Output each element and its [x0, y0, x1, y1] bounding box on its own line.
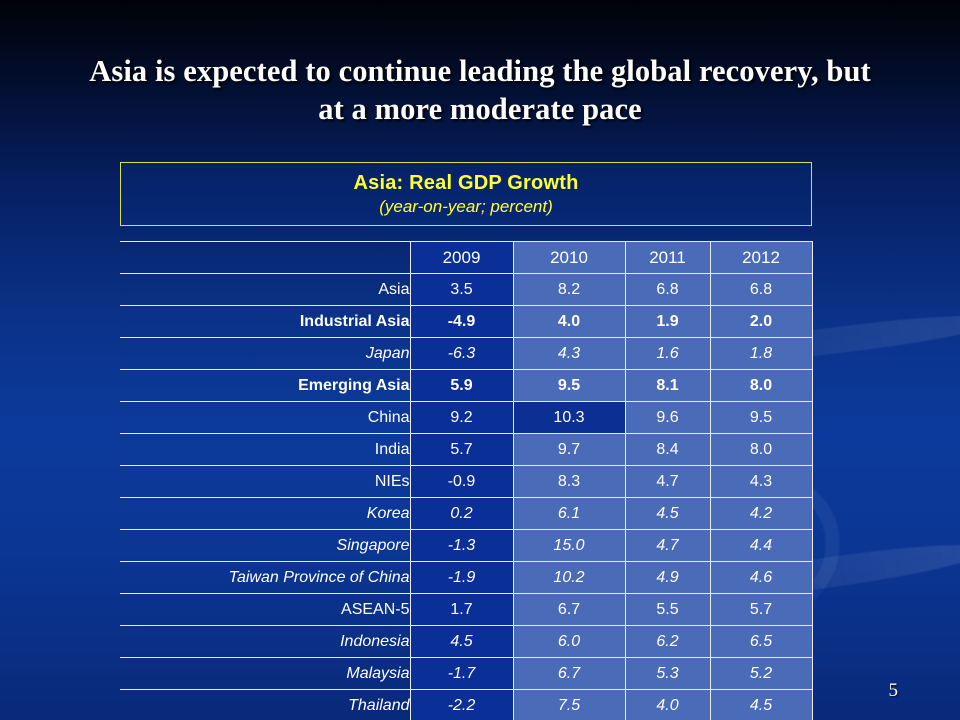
cell-value: 6.5	[710, 626, 812, 658]
column-header-2010: 2010	[513, 242, 625, 274]
cell-value: 0.2	[410, 498, 513, 530]
cell-value: 7.5	[513, 690, 625, 720]
cell-value: 4.5	[625, 498, 710, 530]
slide-title-line-2: at a more moderate pace	[22, 90, 938, 128]
table-row: Thailand-2.27.54.04.5	[120, 690, 812, 720]
row-label: Industrial Asia	[120, 306, 410, 338]
cell-value: 6.8	[710, 274, 812, 306]
cell-value: -6.3	[410, 338, 513, 370]
cell-value: 6.8	[625, 274, 710, 306]
row-label: NIEs	[120, 466, 410, 498]
row-label: Thailand	[120, 690, 410, 720]
row-label: Japan	[120, 338, 410, 370]
table-row: Taiwan Province of China-1.910.24.94.6	[120, 562, 812, 594]
row-label: India	[120, 434, 410, 466]
table-header: 2009 2010 2011 2012	[120, 242, 812, 274]
cell-value: 15.0	[513, 530, 625, 562]
cell-value: 8.1	[625, 370, 710, 402]
cell-value: 9.2	[410, 402, 513, 434]
cell-value: 9.5	[513, 370, 625, 402]
cell-value: 8.3	[513, 466, 625, 498]
cell-value: 1.7	[410, 594, 513, 626]
column-header-blank	[120, 242, 410, 274]
slide-canvas: Asia is expected to continue leading the…	[0, 0, 960, 720]
cell-value: 3.5	[410, 274, 513, 306]
cell-value: 10.2	[513, 562, 625, 594]
cell-value: 6.7	[513, 658, 625, 690]
row-label: ASEAN-5	[120, 594, 410, 626]
cell-value: 4.9	[625, 562, 710, 594]
column-header-2009: 2009	[410, 242, 513, 274]
cell-value: 4.0	[513, 306, 625, 338]
table-row: ASEAN-51.76.75.55.7	[120, 594, 812, 626]
cell-value: 5.9	[410, 370, 513, 402]
table-row: NIEs-0.98.34.74.3	[120, 466, 812, 498]
cell-value: -4.9	[410, 306, 513, 338]
cell-value: 1.8	[710, 338, 812, 370]
cell-value: 5.5	[625, 594, 710, 626]
row-label: Malaysia	[120, 658, 410, 690]
cell-value: 5.2	[710, 658, 812, 690]
cell-value: 8.2	[513, 274, 625, 306]
table-body: Asia3.58.26.86.8Industrial Asia-4.94.01.…	[120, 274, 812, 720]
cell-value: -1.7	[410, 658, 513, 690]
cell-value: 5.7	[710, 594, 812, 626]
column-header-2012: 2012	[710, 242, 812, 274]
table-header-row: 2009 2010 2011 2012	[120, 242, 812, 274]
row-label: Emerging Asia	[120, 370, 410, 402]
cell-value: 4.3	[710, 466, 812, 498]
cell-value: -2.2	[410, 690, 513, 720]
cell-value: 4.6	[710, 562, 812, 594]
cell-value: 9.5	[710, 402, 812, 434]
cell-value: 4.5	[710, 690, 812, 720]
row-label: Taiwan Province of China	[120, 562, 410, 594]
table-row: China9.210.39.69.5	[120, 402, 812, 434]
cell-value: -1.9	[410, 562, 513, 594]
table-row: Industrial Asia-4.94.01.92.0	[120, 306, 812, 338]
cell-value: -1.3	[410, 530, 513, 562]
table-row: Malaysia-1.76.75.35.2	[120, 658, 812, 690]
cell-value: 5.7	[410, 434, 513, 466]
table-row: India5.79.78.48.0	[120, 434, 812, 466]
cell-value: 4.2	[710, 498, 812, 530]
cell-value: 5.3	[625, 658, 710, 690]
cell-value: 6.1	[513, 498, 625, 530]
cell-value: 9.6	[625, 402, 710, 434]
cell-value: 4.0	[625, 690, 710, 720]
slide-title-line-1: Asia is expected to continue leading the…	[89, 54, 871, 88]
table-row: Korea0.26.14.54.2	[120, 498, 812, 530]
cell-value: 10.3	[513, 402, 625, 434]
page-number: 5	[889, 680, 899, 702]
cell-value: 4.7	[625, 466, 710, 498]
column-header-2011: 2011	[625, 242, 710, 274]
table-row: Indonesia4.56.06.26.5	[120, 626, 812, 658]
gdp-growth-table: 2009 2010 2011 2012 Asia3.58.26.86.8Indu…	[120, 241, 813, 720]
cell-value: 6.0	[513, 626, 625, 658]
row-label: Asia	[120, 274, 410, 306]
row-label: Korea	[120, 498, 410, 530]
table-caption-subtitle: (year-on-year; percent)	[379, 196, 553, 218]
cell-value: 9.7	[513, 434, 625, 466]
row-label: Indonesia	[120, 626, 410, 658]
cell-value: 8.0	[710, 434, 812, 466]
row-label: China	[120, 402, 410, 434]
slide-title: Asia is expected to continue leading the…	[22, 52, 938, 128]
cell-value: 6.7	[513, 594, 625, 626]
cell-value: 1.9	[625, 306, 710, 338]
cell-value: 4.3	[513, 338, 625, 370]
cell-value: 4.4	[710, 530, 812, 562]
cell-value: 2.0	[710, 306, 812, 338]
table-caption-box: Asia: Real GDP Growth (year-on-year; per…	[120, 162, 812, 226]
cell-value: 4.5	[410, 626, 513, 658]
table-row: Singapore-1.315.04.74.4	[120, 530, 812, 562]
cell-value: 4.7	[625, 530, 710, 562]
table-row: Asia3.58.26.86.8	[120, 274, 812, 306]
cell-value: 1.6	[625, 338, 710, 370]
cell-value: 8.0	[710, 370, 812, 402]
table-row: Emerging Asia5.99.58.18.0	[120, 370, 812, 402]
cell-value: -0.9	[410, 466, 513, 498]
cell-value: 6.2	[625, 626, 710, 658]
table-row: Japan-6.34.31.61.8	[120, 338, 812, 370]
row-label: Singapore	[120, 530, 410, 562]
cell-value: 8.4	[625, 434, 710, 466]
table-caption-title: Asia: Real GDP Growth	[354, 171, 579, 195]
